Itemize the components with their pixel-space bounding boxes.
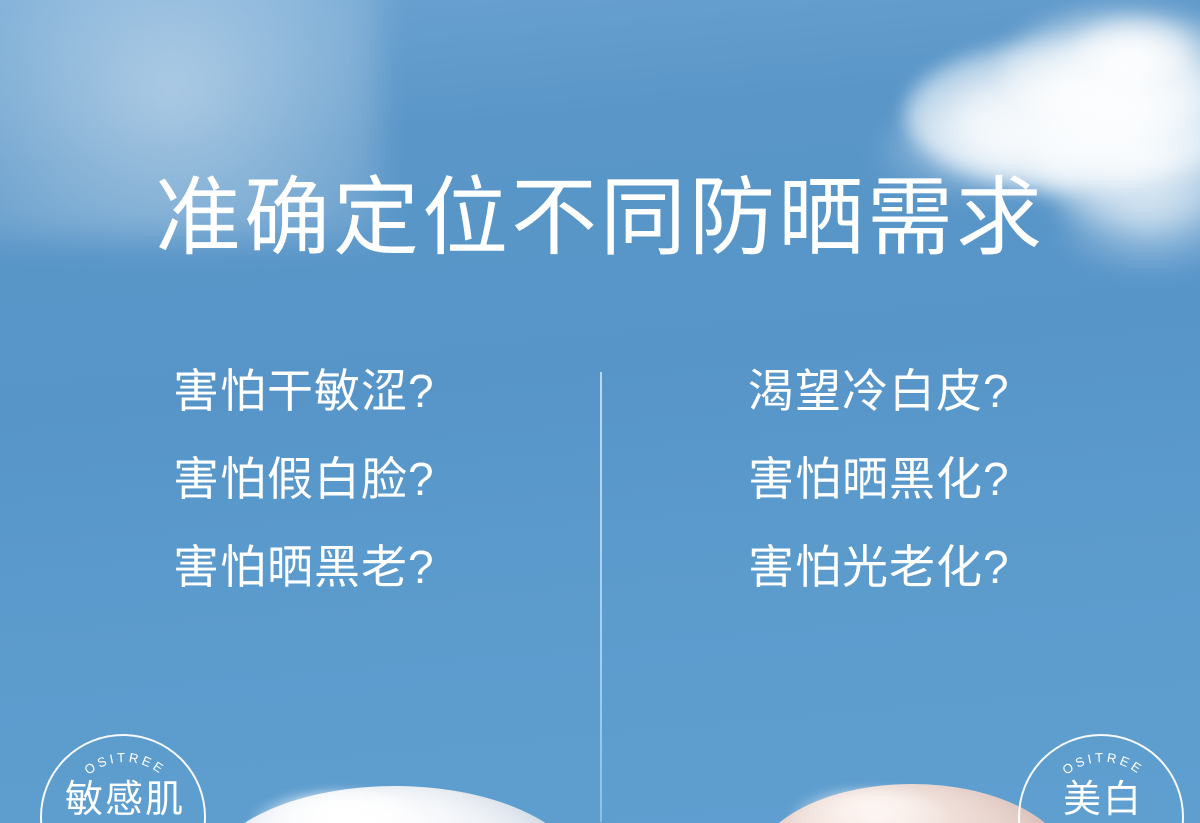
product-cap-white-highlight (250, 792, 430, 823)
seal-brand-text-right: OSITREE (1060, 750, 1147, 778)
seal-badge-sensitive-skin: OSITREE 敏感肌 专研 ® (40, 734, 206, 823)
question-item: 害怕假白脸? (173, 456, 603, 502)
question-item: 害怕干敏涩? (173, 368, 603, 414)
svg-text:OSITREE: OSITREE (82, 750, 169, 778)
seal-badge-whitening: OSITREE 美白 专研 ® (1018, 734, 1184, 823)
question-item: 渴望冷白皮? (748, 368, 1178, 414)
question-item: 害怕晒黑老? (173, 544, 603, 590)
question-columns: 害怕干敏涩? 害怕假白脸? 害怕晒黑老? 渴望冷白皮? 害怕晒黑化? 害怕光老化… (0, 368, 1200, 618)
cloud-top-nub (1075, 18, 1195, 80)
question-column-left: 害怕干敏涩? 害怕假白脸? 害怕晒黑老? (173, 368, 603, 590)
sunscreen-promo-banner: 准确定位不同防晒需求 害怕干敏涩? 害怕假白脸? 害怕晒黑老? 渴望冷白皮? 害… (0, 0, 1200, 823)
question-item: 害怕晒黑化? (748, 456, 1178, 502)
seal-main-text-left: 敏感肌 (42, 780, 208, 821)
seal-brand-text-left: OSITREE (82, 750, 169, 778)
question-column-right: 渴望冷白皮? 害怕晒黑化? 害怕光老化? (748, 368, 1178, 590)
product-cap-white (205, 786, 585, 823)
page-title: 准确定位不同防晒需求 (0, 172, 1200, 265)
cloud-main-left (905, 40, 1200, 190)
question-item: 害怕光老化? (748, 544, 1178, 590)
seal-main-text-right: 美白 (1020, 780, 1186, 821)
cloud-main-upper (1000, 8, 1200, 128)
svg-text:OSITREE: OSITREE (1060, 750, 1147, 778)
product-cap-pink-highlight (790, 790, 950, 823)
